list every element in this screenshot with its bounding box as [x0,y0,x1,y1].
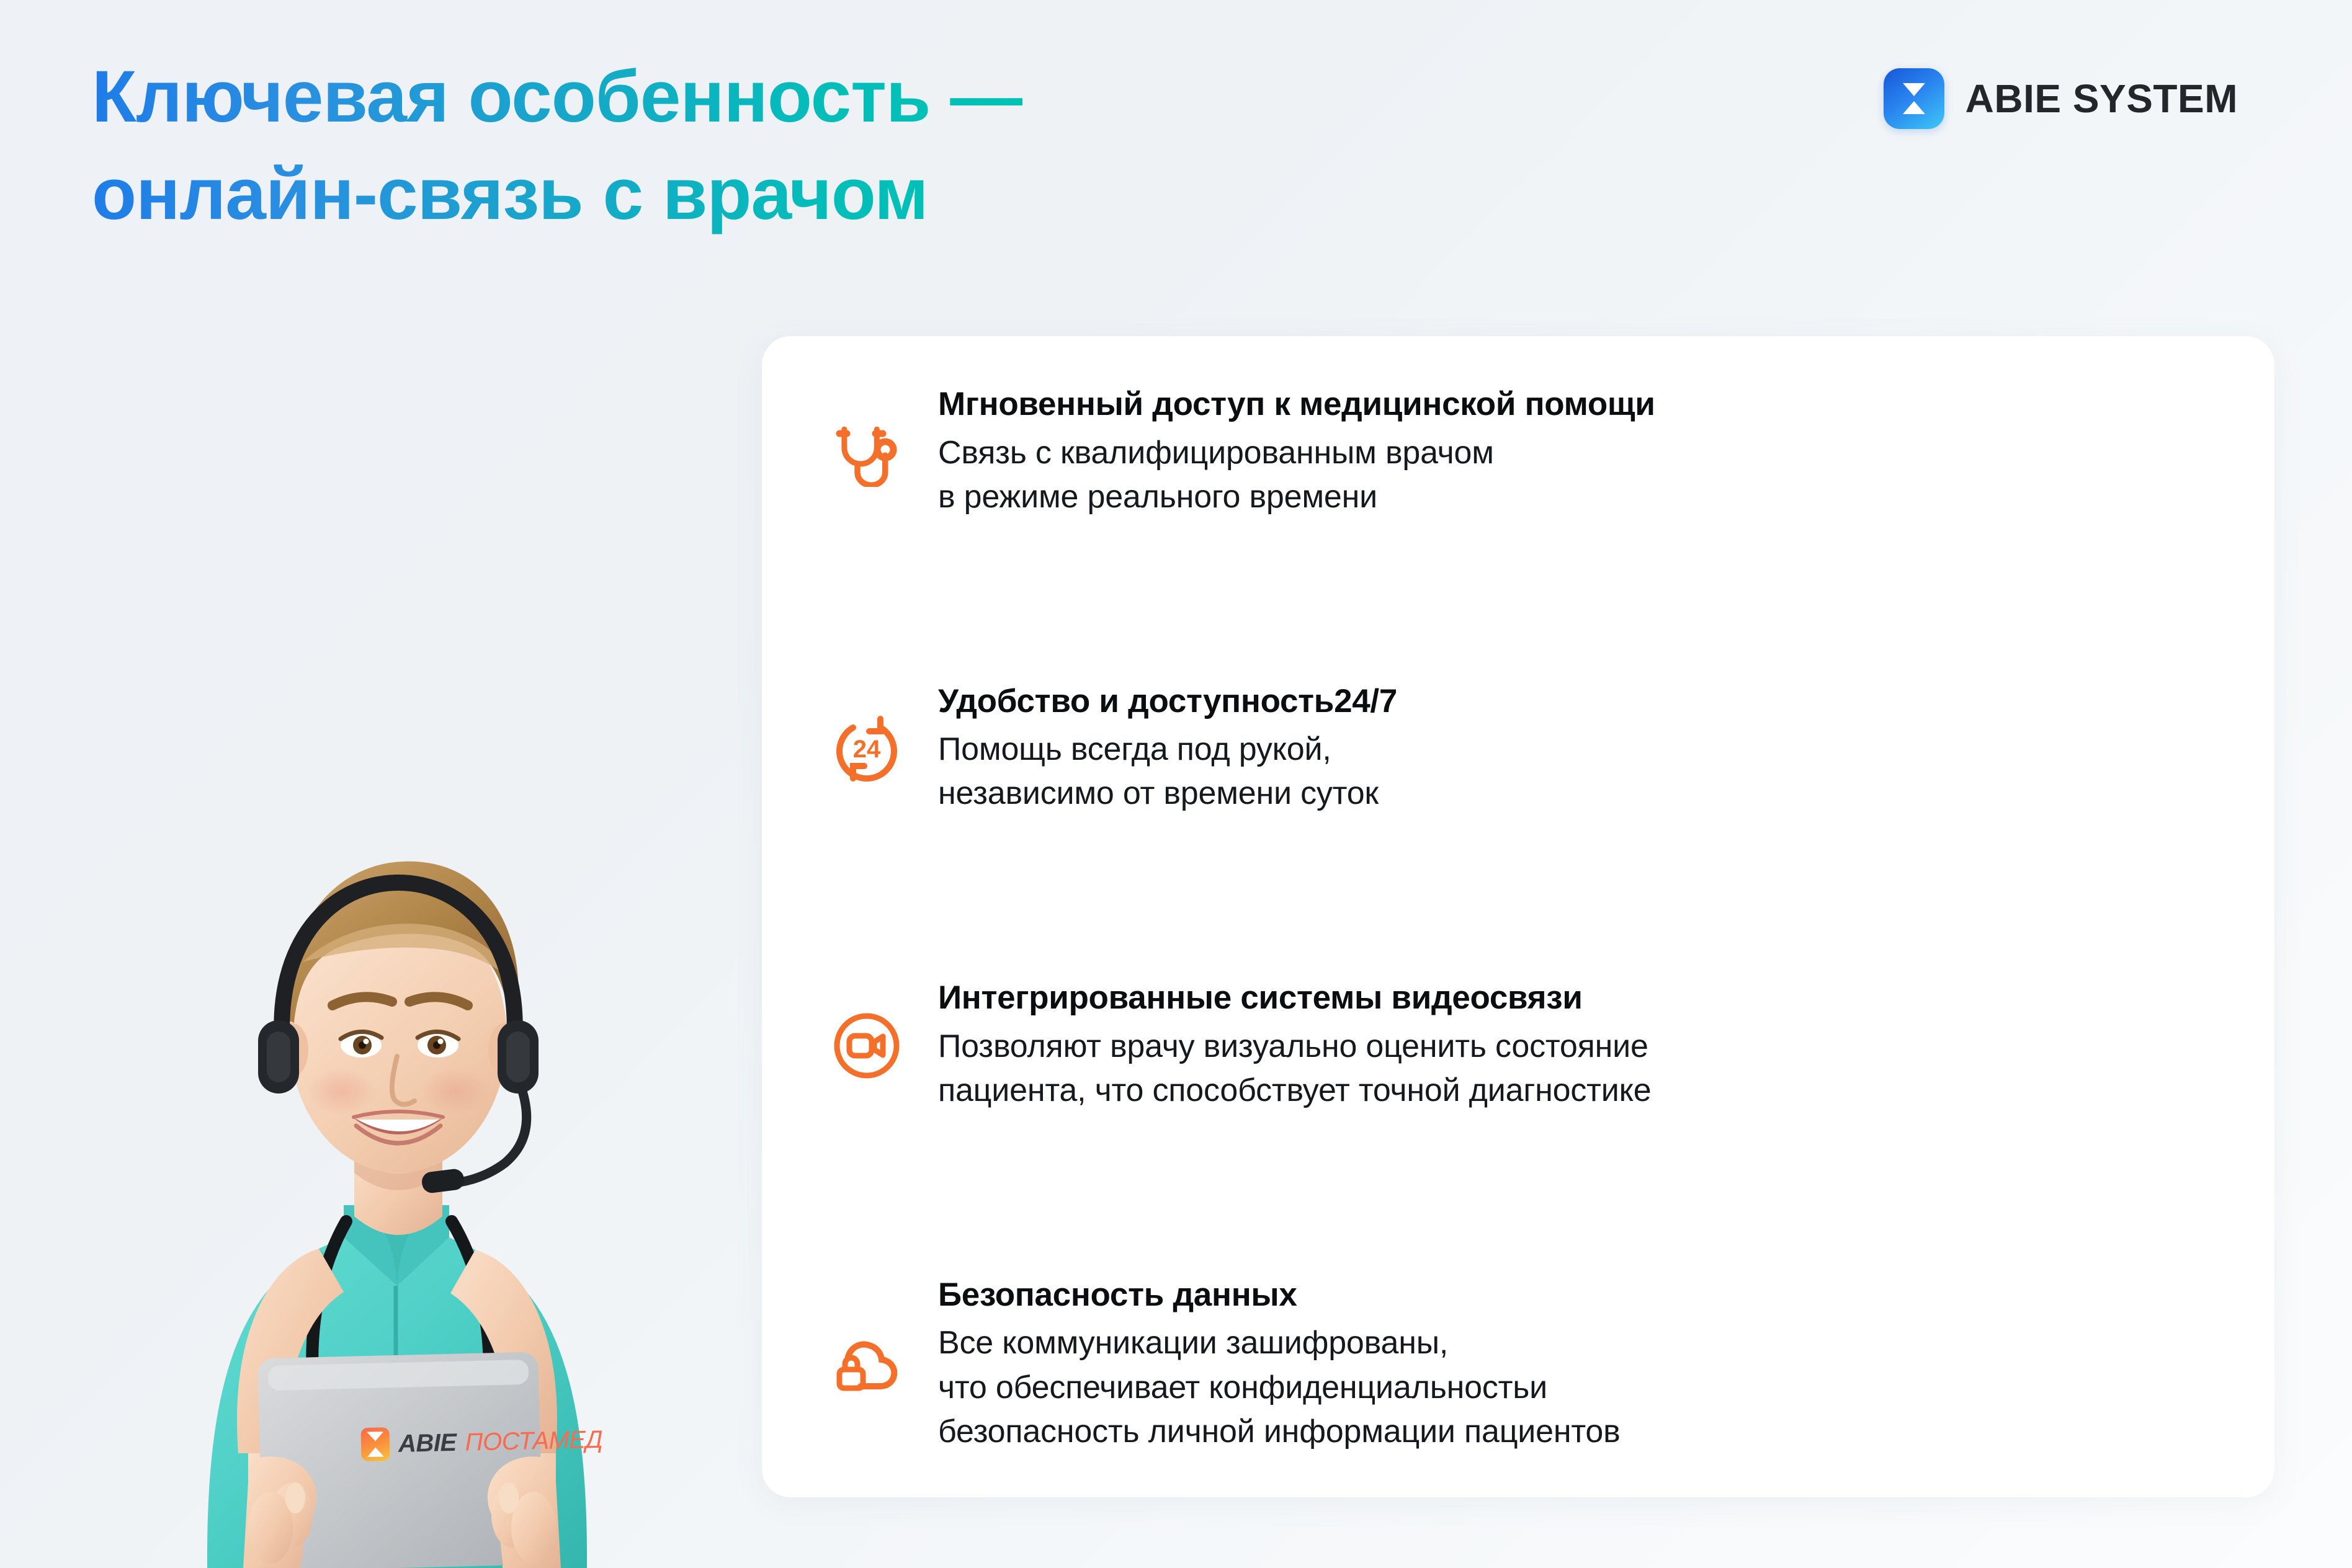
brand-name: ABIE SYSTEM [1965,76,2238,122]
twentyfour-seven-icon: 24 [830,712,903,785]
feature-title: Удобство и доступность24/7 [938,682,2215,722]
feature-description: Помощь всегда под рукой, независимо от в… [938,728,2215,816]
feature-title: Мгновенный доступ к медицинской помощи [938,385,2215,425]
video-camera-icon [830,1009,903,1082]
photo-medical-professional: ABIE ПОСТАМЕД [52,560,741,1568]
stethoscope-icon [830,416,903,489]
page-title: Ключевая особенность — онлайн-связь с вр… [92,48,1022,243]
hourglass-icon [1884,68,1944,129]
feature-title: Безопасность данных [938,1275,2215,1316]
feature-item-video-systems: Интегрированные системы видеосвязи Позво… [830,978,2215,1113]
feature-description: Связь с квалифицированным врачом в режим… [938,431,2215,519]
feature-title: Интегрированные системы видеосвязи [938,978,2215,1018]
feature-item-data-security: Безопасность данных Все коммуникации заш… [830,1275,2215,1454]
brand-logo[interactable]: ABIE SYSTEM [1884,68,2238,129]
twentyfour-label: 24 [853,736,881,763]
page-header: Ключевая особенность — онлайн-связь с вр… [0,0,2352,285]
feature-item-instant-access: Мгновенный доступ к медицинской помощи С… [830,385,2215,519]
features-card: Мгновенный доступ к медицинской помощи С… [762,336,2274,1497]
cloud-lock-icon [830,1328,903,1401]
feature-item-availability-24-7: 24 Удобство и доступность24/7 Помощь все… [830,682,2215,816]
feature-description: Позволяют врачу визуально оценить состоя… [938,1025,2215,1113]
feature-description: Все коммуникации зашифрованы, что обеспе… [938,1321,2215,1454]
